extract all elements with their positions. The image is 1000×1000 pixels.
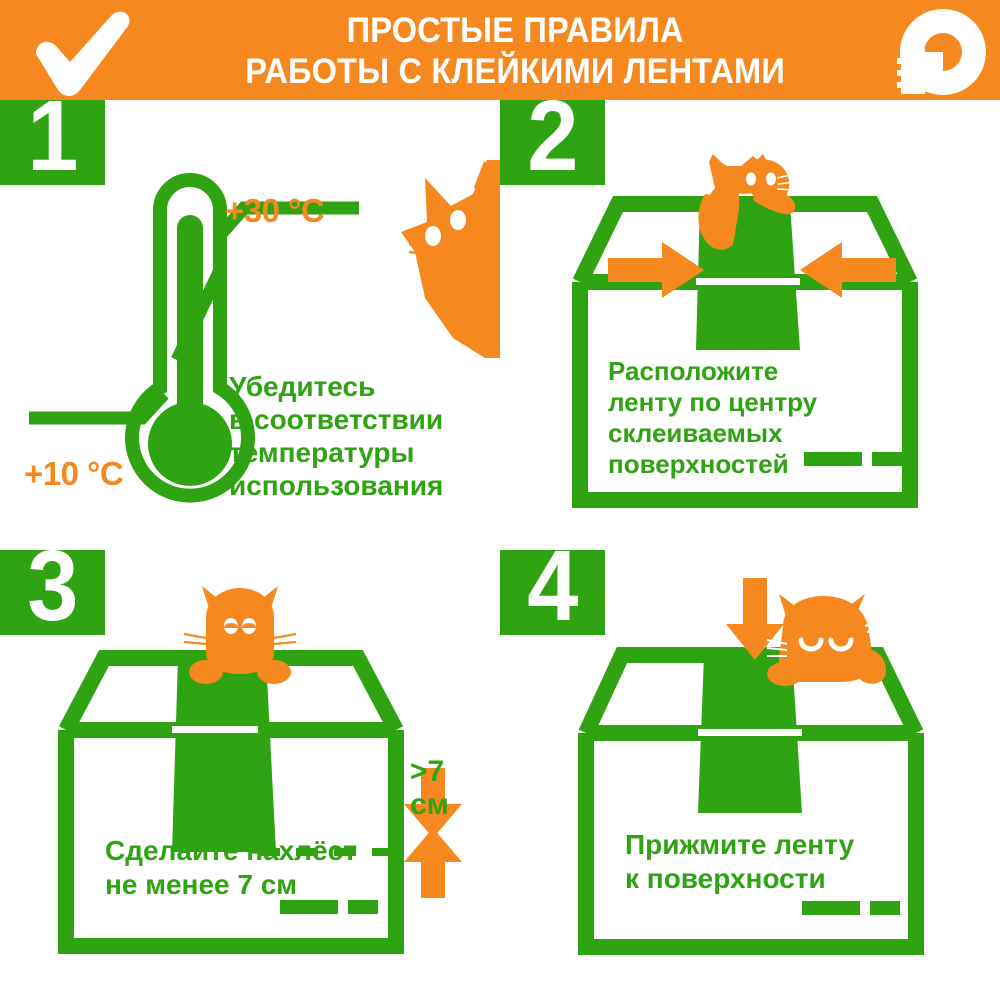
header-banner: ПРОСТЫЕ ПРАВИЛА РАБОТЫ С КЛЕЙКИМИ ЛЕНТАМ…: [0, 0, 1000, 100]
panel-4: 4: [500, 550, 1000, 1000]
tape-roll-icon: [855, 8, 990, 96]
overlap-measure-value: >7: [410, 755, 449, 788]
panel-4-text-line-1: Прижмите ленту: [625, 828, 854, 862]
cat-on-box-icon: [180, 578, 300, 688]
arrow-up-icon: [404, 828, 462, 898]
temp-high-label: +30 °C: [225, 192, 324, 230]
title-line-2: РАБОТЫ С КЛЕЙКИМИ ЛЕНТАМИ: [245, 51, 785, 92]
panel-1-text-line-3: температуры: [229, 436, 443, 469]
arrow-right-icon: [608, 240, 704, 300]
panel-3: 3: [0, 550, 500, 1000]
cat-sleepy-icon: [765, 588, 890, 688]
cat-on-box-icon: [695, 148, 805, 263]
panel-2-text-line-4: поверхностей: [608, 449, 817, 480]
panel-2-text-line-1: Расположите: [608, 356, 817, 387]
page-title: ПРОСТЫЕ ПРАВИЛА РАБОТЫ С КЛЕЙКИМИ ЛЕНТАМ…: [170, 8, 860, 94]
panel-2-number-badge: 2: [500, 100, 605, 185]
panel-3-number-badge: 3: [0, 550, 105, 635]
panel-1-text-line-2: в соответствии: [229, 403, 443, 436]
panel-2-text: Расположите ленту по центру склеиваемых …: [608, 356, 817, 480]
panel-3-text-line-2: не менее 7 см: [105, 868, 357, 902]
box-sealed-icon: [576, 645, 924, 960]
panel-4-number-badge: 4: [500, 550, 605, 635]
overlap-measure-unit: см: [410, 788, 449, 821]
cat-peeking-icon: [395, 148, 500, 388]
infographic-poster: ПРОСТЫЕ ПРАВИЛА РАБОТЫ С КЛЕЙКИМИ ЛЕНТАМ…: [0, 0, 1000, 1000]
panels-grid: 1 +30 °C +10 °C Убедитесь в со: [0, 100, 1000, 1000]
panel-1: 1 +30 °C +10 °C Убедитесь в со: [0, 100, 500, 550]
panel-3-text: Сделайте нахлёст не менее 7 см: [105, 834, 357, 902]
checkmark-icon: [30, 10, 150, 94]
arrow-left-icon: [800, 240, 896, 300]
panel-2-text-line-2: ленту по центру: [608, 387, 817, 418]
panel-4-text-line-2: к поверхности: [625, 862, 854, 896]
panel-1-text: Убедитесь в соответствии температуры исп…: [229, 370, 443, 502]
panel-3-text-line-1: Сделайте нахлёст: [105, 834, 357, 868]
overlap-measure-label: >7 см: [410, 755, 449, 821]
panel-2-text-line-3: склеиваемых: [608, 418, 817, 449]
panel-1-text-line-4: использования: [229, 469, 443, 502]
title-line-1: ПРОСТЫЕ ПРАВИЛА: [346, 10, 683, 51]
panel-4-text: Прижмите ленту к поверхности: [625, 828, 854, 896]
temp-low-label: +10 °C: [24, 455, 123, 493]
box-with-overlap-icon: [58, 650, 404, 960]
panel-2: 2: [500, 100, 1000, 550]
